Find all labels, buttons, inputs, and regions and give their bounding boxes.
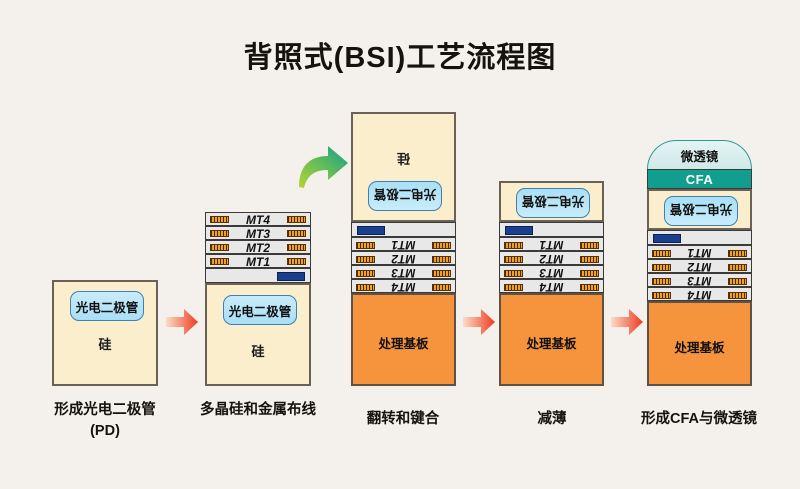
metal-row-mt1-5: MT1 (647, 245, 752, 259)
stage-1: 光电二极管 硅 (52, 280, 158, 386)
handle-substrate-4: 处理基板 (499, 293, 604, 386)
metal-label-mt4-3: MT4 (352, 281, 455, 293)
poly-gate-4 (505, 226, 533, 235)
metal-label-mt1-3: MT1 (352, 239, 455, 251)
poly-gate-5 (653, 234, 681, 243)
silicon-layer-3: 硅 光电二极管 (351, 112, 456, 222)
microlens-label: 微透镜 (681, 146, 719, 165)
photodiode-label: 光电二极管 (522, 194, 585, 213)
photodiode-block-3: 光电二极管 (368, 181, 442, 211)
metal-label-mt3-2: MT3 (206, 228, 310, 240)
arrow-3-4 (462, 307, 496, 337)
metal-label-mt3-5: MT3 (648, 275, 751, 287)
silicon-layer-4: 光电二极管 (499, 181, 604, 222)
silicon-layer-1: 光电二极管 硅 (52, 280, 158, 386)
metal-row-mt3-4: MT3 (499, 265, 604, 279)
substrate-label-4: 处理基板 (501, 333, 602, 352)
microlens-dome: 微透镜 (647, 140, 752, 169)
silicon-label-3: 硅 (353, 150, 454, 169)
metal-label-mt4-5: MT4 (648, 289, 751, 301)
metal-label-mt2-5: MT2 (648, 261, 751, 273)
metal-row-mt4-4: MT4 (499, 279, 604, 293)
stage-3: 硅 光电二极管 MT1 MT2 MT3 MT4 处理基板 (351, 112, 456, 386)
photodiode-label: 光电二极管 (229, 301, 292, 320)
stage-2-caption: 多晶硅和金属布线 (183, 400, 333, 421)
cfa-band: CFA (647, 169, 752, 189)
arrow-1-2 (165, 307, 199, 337)
metal-row-mt3-5: MT3 (647, 273, 752, 287)
metal-row-mt3-3: MT3 (351, 265, 456, 279)
page-title: 背照式(BSI)工艺流程图 (0, 34, 800, 76)
metal-row-mt4-3: MT4 (351, 279, 456, 293)
metal-label-mt1-5: MT1 (648, 247, 751, 259)
metal-row-mt3-2: MT3 (205, 226, 311, 240)
stage-5: 微透镜 CFA 光电二极管 MT1 MT2 MT3 MT4 处理基板 (647, 140, 752, 386)
silicon-layer-2: 光电二极管 硅 (205, 283, 311, 386)
stage-3-caption: 翻转和键合 (328, 409, 478, 430)
photodiode-label: 光电二极管 (374, 187, 437, 206)
stage-2: MT4 MT3 MT2 MT1 光电二极管 硅 (205, 212, 311, 386)
stage-4-caption: 减薄 (477, 409, 627, 430)
photodiode-block-2: 光电二极管 (223, 295, 297, 325)
metal-row-mt4-2: MT4 (205, 212, 311, 226)
poly-gate-3 (357, 226, 385, 235)
cfa-label: CFA (686, 172, 714, 187)
photodiode-block-4: 光电二极管 (516, 188, 590, 218)
photodiode-label: 光电二极管 (76, 297, 139, 316)
metal-row-mt4-5: MT4 (647, 287, 752, 301)
metal-row-mt2-4: MT2 (499, 251, 604, 265)
metal-row-mt1-4: MT1 (499, 237, 604, 251)
handle-substrate-5: 处理基板 (647, 301, 752, 386)
silicon-label-1: 硅 (54, 334, 156, 353)
poly-gate-2 (277, 272, 305, 281)
metal-row-mt2-3: MT2 (351, 251, 456, 265)
ild-row-2 (205, 268, 311, 283)
metal-label-mt2-3: MT2 (352, 253, 455, 265)
silicon-label-2: 硅 (207, 341, 309, 360)
metal-row-mt2-2: MT2 (205, 240, 311, 254)
metal-label-mt4-4: MT4 (500, 281, 603, 293)
metal-label-mt2-2: MT2 (206, 242, 310, 254)
photodiode-block-5: 光电二极管 (664, 196, 738, 226)
ild-row-3 (351, 222, 456, 237)
metal-row-mt2-5: MT2 (647, 259, 752, 273)
arrow-4-5 (610, 307, 644, 337)
metal-label-mt1-2: MT1 (206, 256, 310, 268)
stage-4: 光电二极管 MT1 MT2 MT3 MT4 处理基板 (499, 181, 604, 386)
substrate-label-5: 处理基板 (649, 337, 750, 356)
substrate-label-3: 处理基板 (353, 333, 454, 352)
arrow-2-3 (295, 143, 351, 191)
metal-label-mt3-3: MT3 (352, 267, 455, 279)
metal-label-mt2-4: MT2 (500, 253, 603, 265)
handle-substrate-3: 处理基板 (351, 293, 456, 386)
photodiode-label: 光电二极管 (670, 202, 733, 221)
metal-label-mt4-2: MT4 (206, 214, 310, 226)
silicon-layer-5: 光电二极管 (647, 189, 752, 230)
metal-row-mt1-3: MT1 (351, 237, 456, 251)
stage-1-caption: 形成光电二极管 (PD) (8, 400, 202, 442)
stage-5-caption: 形成CFA与微透镜 (624, 409, 774, 430)
metal-label-mt1-4: MT1 (500, 239, 603, 251)
metal-label-mt3-4: MT3 (500, 267, 603, 279)
ild-row-4 (499, 222, 604, 237)
photodiode-block-1: 光电二极管 (70, 291, 144, 321)
metal-row-mt1-2: MT1 (205, 254, 311, 268)
ild-row-5 (647, 230, 752, 245)
